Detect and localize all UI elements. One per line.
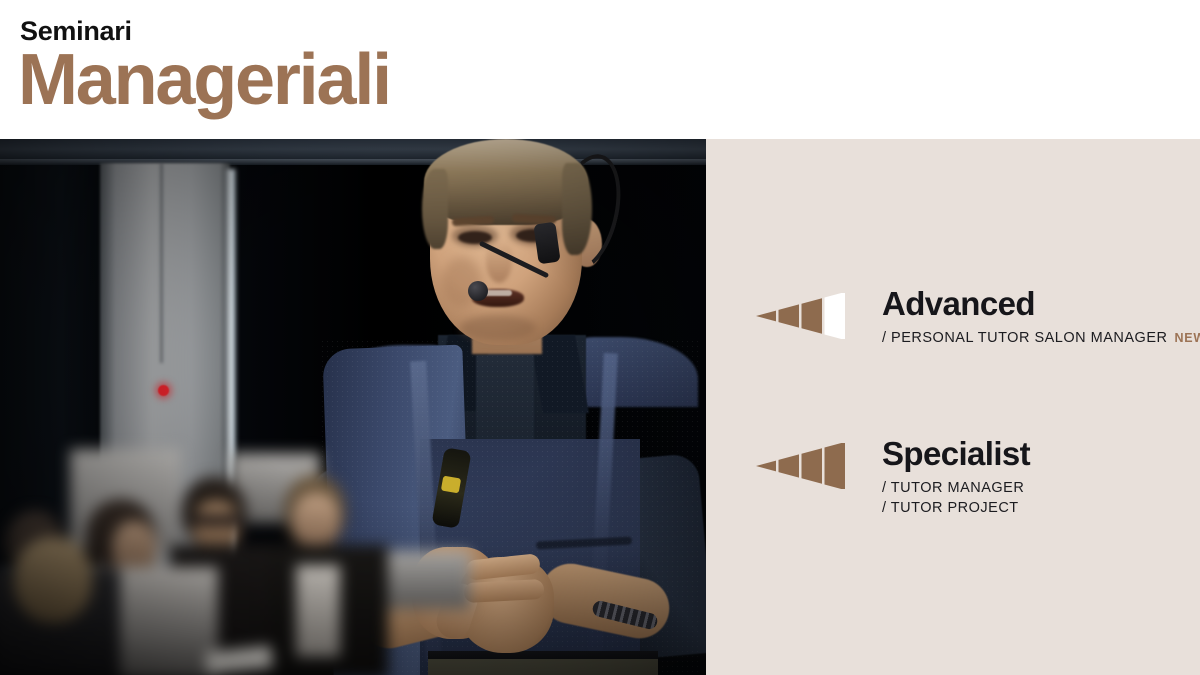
status-badge: NEW	[1174, 331, 1200, 345]
segmented-wedge-left-icon	[756, 293, 852, 339]
course-item[interactable]: / PERSONAL TUTOR SALON MANAGERNEW	[882, 328, 1200, 348]
speaker-photo	[0, 139, 706, 675]
level-text-advanced: Advanced / PERSONAL TUTOR SALON MANAGERN…	[882, 287, 1200, 348]
level-entry-advanced[interactable]: Advanced / PERSONAL TUTOR SALON MANAGERN…	[706, 287, 1200, 348]
level-entry-specialist[interactable]: Specialist / TUTOR MANAGER / TUTOR PROJE…	[706, 437, 1030, 518]
course-item[interactable]: / TUTOR PROJECT	[882, 498, 1030, 518]
course-list: / PERSONAL TUTOR SALON MANAGERNEW	[882, 328, 1200, 348]
page-title: Manageriali	[18, 44, 390, 116]
course-item[interactable]: / TUTOR MANAGER	[882, 478, 1030, 498]
level-text-specialist: Specialist / TUTOR MANAGER / TUTOR PROJE…	[882, 437, 1030, 518]
photo-vignette	[0, 139, 706, 675]
course-levels-panel: Advanced / PERSONAL TUTOR SALON MANAGERN…	[706, 139, 1200, 675]
segmented-wedge-left-icon	[756, 443, 852, 489]
level-title: Specialist	[882, 437, 1030, 472]
slide-canvas: Seminari Manageriali	[0, 0, 1200, 675]
course-list: / TUTOR MANAGER / TUTOR PROJECT	[882, 478, 1030, 519]
course-label: / PERSONAL TUTOR SALON MANAGER	[882, 330, 1167, 346]
slide-header: Seminari Manageriali	[0, 0, 1200, 139]
level-title: Advanced	[882, 287, 1200, 322]
